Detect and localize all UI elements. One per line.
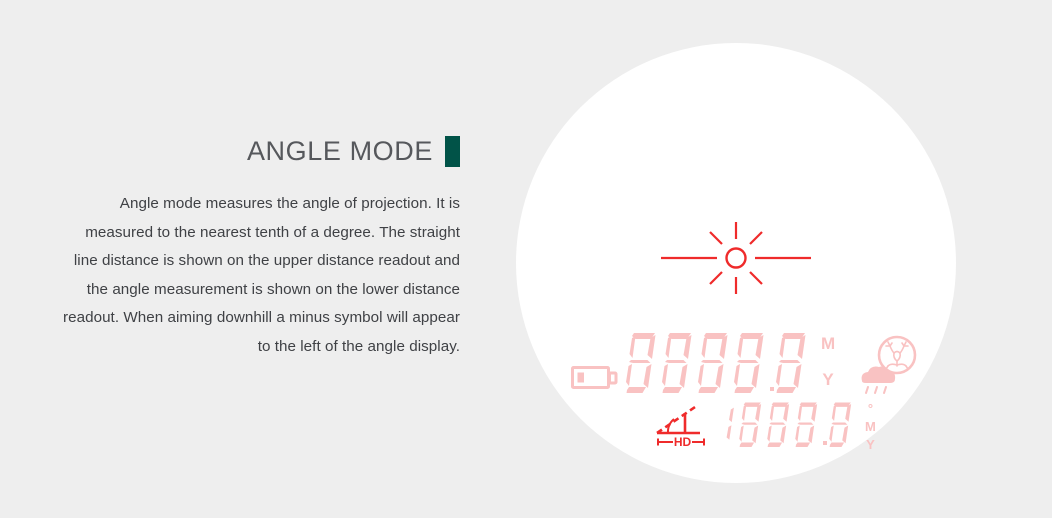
seg-digit-one xyxy=(716,401,736,447)
battery-low-icon xyxy=(571,365,619,391)
unit-meters: M xyxy=(821,335,835,352)
accent-block xyxy=(445,136,460,167)
unit-degrees: ° xyxy=(868,402,873,415)
heading-row: ANGLE MODE xyxy=(0,136,460,167)
seg-digit xyxy=(739,401,764,447)
angle-icon-label: HD xyxy=(674,435,692,449)
seg-digit xyxy=(662,331,695,393)
unit-yards: Y xyxy=(822,371,833,388)
mode-indicator-icons xyxy=(854,335,926,397)
lower-unit-labels: ° M Y xyxy=(865,402,876,456)
seg-digit xyxy=(626,331,659,393)
description-paragraph: Angle mode measures the angle of project… xyxy=(60,190,460,362)
upper-unit-labels: M Y xyxy=(821,335,835,407)
upper-digits xyxy=(626,331,812,393)
angle-hd-icon: HD xyxy=(654,401,710,445)
lower-angle-readout: HD xyxy=(654,401,876,456)
scope-display-overlay: M Y xyxy=(516,43,956,483)
seg-digit xyxy=(829,401,854,447)
text-panel: ANGLE MODE Angle mode measures the angle… xyxy=(0,0,480,518)
page-title: ANGLE MODE xyxy=(247,138,433,165)
unit-yards: Y xyxy=(866,438,875,451)
rangefinder-scope-view: M Y xyxy=(516,43,956,483)
seg-digit xyxy=(767,401,792,447)
upper-distance-readout: M Y xyxy=(626,331,835,407)
crosshair-burst-icon xyxy=(661,218,811,298)
seg-digit xyxy=(776,331,809,393)
seg-digit xyxy=(734,331,767,393)
seg-digit xyxy=(795,401,820,447)
unit-meters: M xyxy=(865,420,876,433)
seg-digit xyxy=(698,331,731,393)
lower-digits xyxy=(716,401,857,447)
